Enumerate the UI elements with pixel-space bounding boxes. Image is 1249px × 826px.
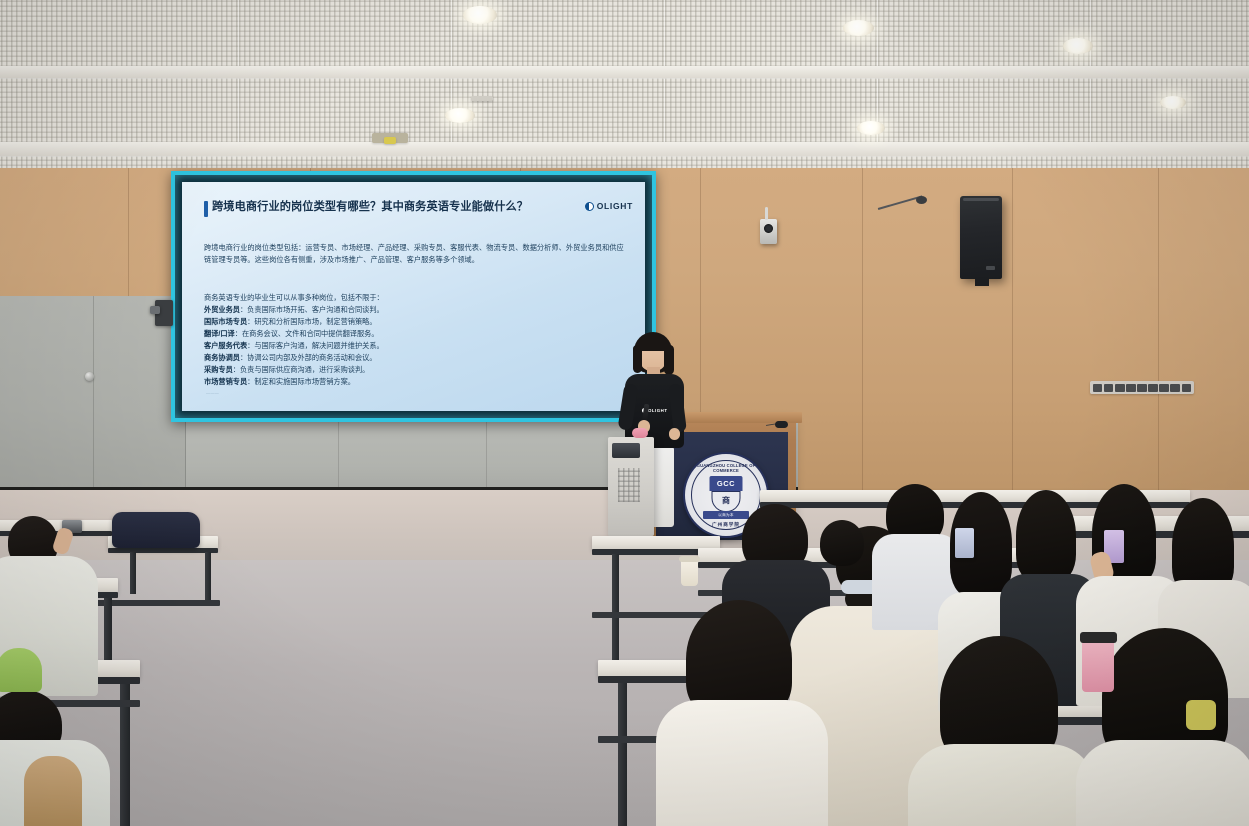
list-item: 市场营销专员：制定和实施国际市场营销方案。 [204, 376, 384, 388]
ceiling-downlight [1160, 96, 1186, 109]
presenter-hair-right [664, 345, 674, 375]
list-item: 商务协调员：协调公司内部及外部的商务活动和会议。 [204, 352, 384, 364]
list-item: 翻译/口译：在商务会议、文件和合同中提供翻译服务。 [204, 328, 384, 340]
cup-lid [1080, 632, 1117, 643]
cup-lid [679, 556, 700, 562]
ceiling-downlight [445, 108, 475, 123]
ceiling-tile [877, 0, 1092, 68]
presenter-hand-right [669, 428, 680, 440]
ceiling-tile [238, 0, 453, 68]
slide-lead-in: 商务英语专业的毕业生可以从事多种岗位，包括不限于： [204, 292, 384, 304]
student-hair [1016, 490, 1076, 582]
door-knob[interactable] [85, 372, 94, 381]
drink-cup [681, 560, 698, 586]
slide-role-list: 外贸业务员：负责国际市场开拓、客户沟通和合同谈判。 国际市场专员：研究和分析国际… [204, 304, 384, 388]
left-wall-panel [0, 296, 186, 498]
desk-edge [108, 548, 218, 553]
ceiling-tile [0, 0, 240, 68]
wall-camera [760, 219, 777, 244]
ceiling-tile [877, 78, 1092, 144]
seal-initials: GCC [710, 476, 743, 491]
list-item: 国际市场专员：研究和分析国际市场，制定营销策略。 [204, 316, 384, 328]
ceiling-tile [238, 78, 453, 144]
wall-seam [862, 168, 863, 498]
ceiling-tile [1090, 0, 1249, 68]
olight-logo: OLIGHT [585, 201, 633, 211]
ceiling-tile [664, 0, 879, 68]
ceiling-fixture [384, 137, 396, 144]
seal-text-top: GUANGZHOU COLLEGE OF COMMERCE [685, 463, 767, 473]
desk-leg [618, 683, 627, 826]
list-item: 客户服务代表：与国际客户沟通，解决问题并维护关系。 [204, 340, 384, 352]
ceiling-tile [451, 78, 666, 144]
seal-crest-char: 商 [712, 491, 741, 512]
wall-speaker [960, 196, 1002, 279]
student-sleeve [0, 648, 42, 692]
desk-leg [130, 552, 136, 594]
mic-head-icon [916, 196, 927, 204]
list-item: 采购专员：负责与国际供应商沟通，进行采购谈判。 [204, 364, 384, 376]
presentation-slide: 跨境电商行业的岗位类型有哪些？其中商务英语专业能做什么？ OLIGHT 跨境电商… [182, 182, 645, 411]
ceiling-downlight [1063, 38, 1093, 54]
presenter-hair-left [633, 345, 642, 373]
student-torso [656, 700, 828, 826]
title-accent-bar [204, 201, 208, 217]
ceiling-beam [0, 142, 1249, 156]
ceiling-beam [0, 66, 1249, 78]
student-torso [1076, 740, 1249, 826]
student-phone[interactable] [955, 528, 974, 558]
olight-wordmark: OLIGHT [597, 201, 633, 211]
slide-footer-mark: ——— [206, 390, 219, 395]
drink-cup [1082, 640, 1114, 692]
projection-screen: 跨境电商行业的岗位类型有哪些？其中商务英语专业能做什么？ OLIGHT 跨境电商… [171, 171, 656, 422]
air-vent-grille [1090, 381, 1194, 394]
ceiling-downlight [857, 121, 885, 135]
podium-microphone [766, 420, 788, 428]
boom-microphone [878, 196, 926, 218]
ceiling-downlight [463, 6, 497, 24]
student-hair [820, 520, 864, 566]
wall-seam [1158, 168, 1159, 498]
wall-seam [1012, 168, 1013, 498]
av-equipment-rack [608, 437, 654, 536]
shirt-brand-text: OLIGHT [648, 408, 668, 413]
desk-leg [205, 552, 211, 600]
slide-title: 跨境电商行业的岗位类型有哪些？其中商务英语专业能做什么？ [212, 200, 549, 214]
slide-paragraph: 跨境电商行业的岗位类型包括：运营专员、市场经理、产品经理、采购专员、客服代表、物… [204, 242, 631, 265]
ceiling-fixture [471, 96, 493, 101]
seal-shield: GCC 商 [710, 476, 743, 516]
olight-circle-icon [585, 202, 594, 211]
backpack [112, 512, 200, 548]
rack-control-panel[interactable] [612, 443, 640, 458]
student [1016, 490, 1076, 582]
student-torso [908, 744, 1096, 826]
ceiling-tile [0, 78, 240, 144]
lecture-hall-photo: 跨境电商行业的岗位类型有哪些？其中商务英语专业能做什么？ OLIGHT 跨境电商… [0, 0, 1249, 826]
student [820, 520, 864, 566]
screen-mount-bracket [150, 306, 160, 314]
pink-object-on-rack [632, 428, 648, 438]
rack-speaker-grille [618, 468, 640, 502]
wall-speaker-mount [975, 277, 989, 286]
ceiling-tile [664, 78, 879, 144]
ceiling-downlight [843, 20, 874, 36]
ceiling [0, 0, 1249, 178]
bag-charm [1186, 700, 1216, 730]
handbag [24, 756, 82, 826]
list-item: 外贸业务员：负责国际市场开拓、客户沟通和合同谈判。 [204, 304, 384, 316]
ceiling-tile [1090, 78, 1249, 144]
